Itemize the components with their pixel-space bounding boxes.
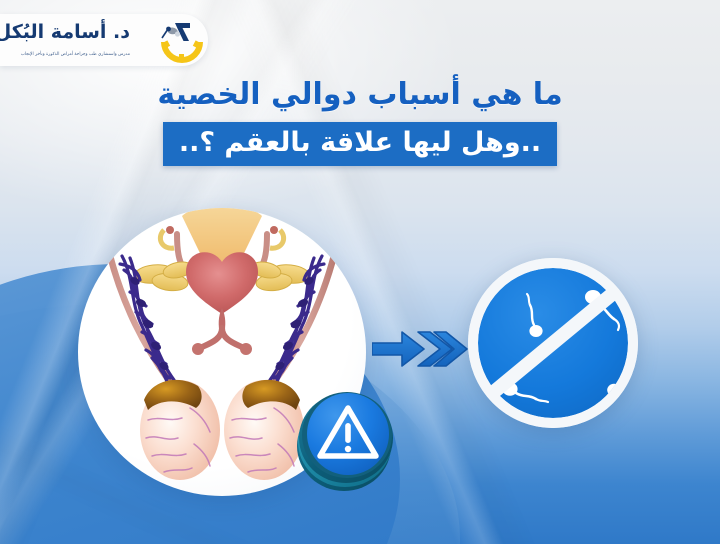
- headline-banner-row: ..وهل ليها علاقة بالعقم ؟..: [0, 113, 720, 166]
- double-chevron-right-arrow-icon: [372, 322, 470, 376]
- brand-subtitle: مدرس واستشاري طب وجراحة أمراض الذكورة وت…: [21, 52, 130, 57]
- warning-badge: [294, 382, 398, 492]
- headline-line-1: ما هي أسباب دوالي الخصية: [0, 78, 720, 113]
- doctor-monogram-icon: [156, 17, 208, 63]
- no-sperm-prohibition-icon: [462, 252, 644, 434]
- headline-line-2-banner: ..وهل ليها علاقة بالعقم ؟..: [163, 122, 557, 166]
- headline-block: ما هي أسباب دوالي الخصية ..وهل ليها علاق…: [0, 78, 720, 166]
- brand-text: د. أسامة البُكل مدرس واستشاري طب وجراحة …: [0, 23, 140, 58]
- brand-name: د. أسامة البُكل: [0, 21, 130, 43]
- brand-logo: د. أسامة البُكل مدرس واستشاري طب وجراحة …: [0, 14, 208, 66]
- poster-canvas: د. أسامة البُكل مدرس واستشاري طب وجراحة …: [0, 0, 720, 544]
